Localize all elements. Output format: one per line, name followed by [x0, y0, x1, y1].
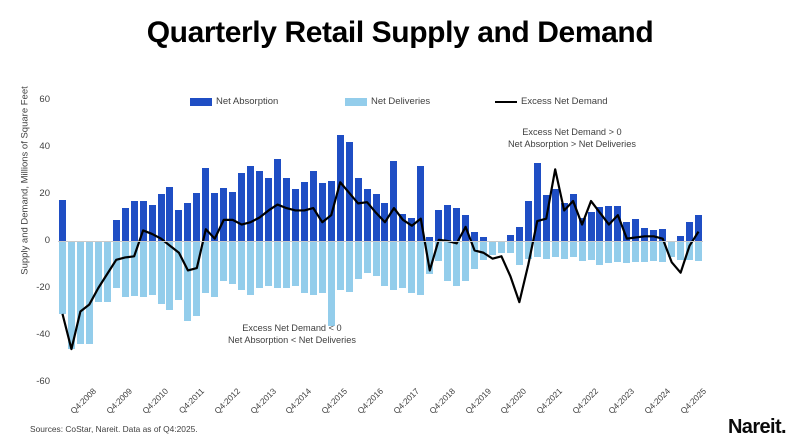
- x-axis-tick-label: Q4:2023: [596, 386, 636, 426]
- x-axis-tick-label: Q4:2019: [453, 386, 493, 426]
- y-axis-tick-label: -40: [20, 329, 50, 340]
- x-axis-tick-label: Q4:2021: [525, 386, 565, 426]
- y-axis-tick-label: -60: [20, 376, 50, 387]
- x-axis-tick-label: Q4:2018: [417, 386, 457, 426]
- x-axis-tick-label: Q4:2016: [345, 386, 385, 426]
- x-axis-tick-label: Q4:2024: [632, 386, 672, 426]
- positive-region-note-line1: Excess Net Demand > 0: [508, 126, 636, 138]
- nareit-logo: Nareit.: [728, 416, 786, 439]
- x-axis-tick-label: Q4:2012: [202, 386, 242, 426]
- chart-root: Quarterly Retail Supply and Demand Net A…: [0, 0, 800, 445]
- chart-title: Quarterly Retail Supply and Demand: [0, 16, 800, 50]
- negative-region-note-line2: Net Absorption < Net Deliveries: [228, 334, 356, 346]
- negative-region-note-line1: Excess Net Demand < 0: [228, 322, 356, 334]
- y-axis-title: Supply and Demand, Millions of Square Fe…: [20, 56, 31, 306]
- x-axis-tick-label: Q4:2014: [274, 386, 314, 426]
- x-axis-tick-label: Q4:2013: [238, 386, 278, 426]
- zero-axis-line: [58, 241, 703, 242]
- positive-region-note: Excess Net Demand > 0 Net Absorption > N…: [508, 126, 636, 151]
- x-axis-tick-label: Q4:2020: [489, 386, 529, 426]
- x-axis-tick-label: Q4:2015: [310, 386, 350, 426]
- x-axis-tick-label: Q4:2008: [59, 386, 99, 426]
- source-note: Sources: CoStar, Nareit. Data as of Q4:2…: [30, 424, 198, 434]
- x-axis-tick-label: Q4:2017: [381, 386, 421, 426]
- negative-region-note: Excess Net Demand < 0 Net Absorption < N…: [228, 322, 356, 347]
- positive-region-note-line2: Net Absorption > Net Deliveries: [508, 138, 636, 150]
- excess-net-demand-polyline: [62, 169, 698, 349]
- x-axis-tick-label: Q4:2022: [560, 386, 600, 426]
- x-axis-tick-label: Q4:2025: [668, 386, 708, 426]
- x-axis-tick-label: Q4:2011: [166, 386, 206, 426]
- x-axis-tick-label: Q4:2009: [95, 386, 135, 426]
- x-axis-tick-label: Q4:2010: [130, 386, 170, 426]
